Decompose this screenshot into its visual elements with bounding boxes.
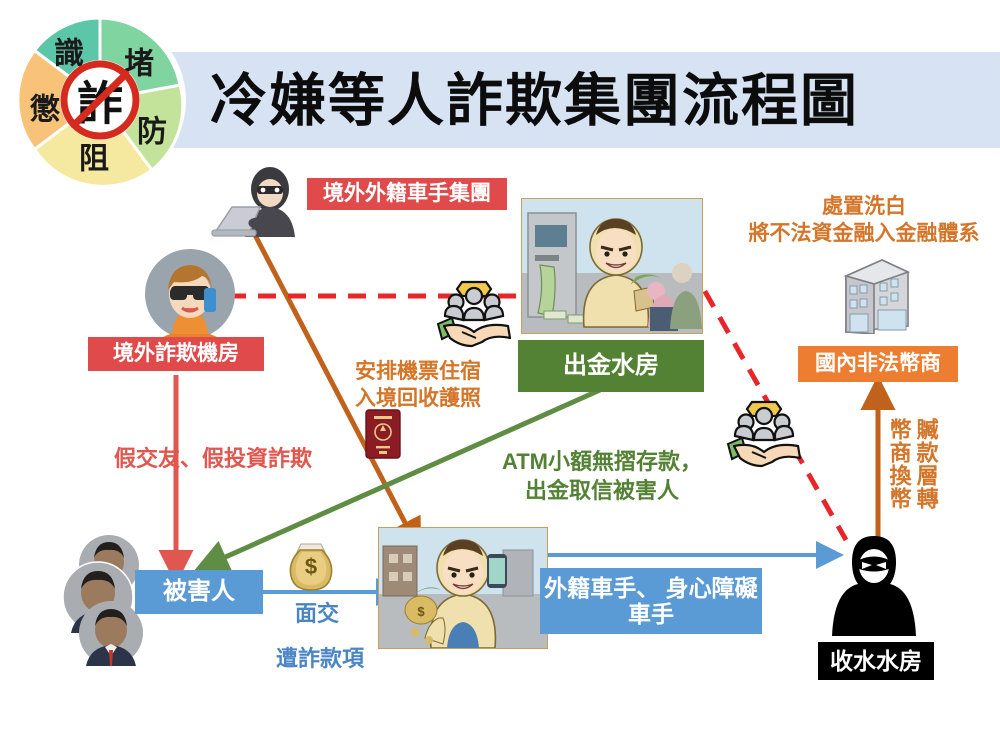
annotation-arrange-flight: 安排機票住宿 入境回收護照 bbox=[333, 358, 503, 413]
annotation-defrauded-funds: 遭詐款項 bbox=[250, 645, 390, 674]
node-domestic-dealer-label: 國內非法幣商 bbox=[815, 352, 941, 376]
node-payout-laundry-label: 出金水房 bbox=[563, 352, 659, 380]
office-building-icon bbox=[838, 252, 914, 334]
masked-thief-icon bbox=[828, 532, 920, 640]
logo-petal-4: 懲 bbox=[30, 94, 60, 127]
node-domestic-dealer[interactable]: 國內非法幣商 bbox=[798, 346, 958, 382]
node-victim-label: 被害人 bbox=[163, 578, 235, 606]
node-payout-laundry[interactable]: 出金水房 bbox=[518, 340, 704, 392]
logo-petal-3: 阻 bbox=[79, 143, 109, 176]
node-collector-laundry[interactable]: 收水水房 bbox=[818, 642, 934, 680]
node-overseas-callcenter-label: 境外詐欺機房 bbox=[113, 342, 239, 366]
passport-icon bbox=[364, 408, 402, 460]
handshake-deal-icon-upper bbox=[432, 276, 516, 352]
svg-text:$: $ bbox=[417, 604, 425, 619]
annotation-dirty-money-layer: 贓款層轉 bbox=[911, 418, 940, 510]
node-overseas-mules-label: 境外外籍車手集團 bbox=[323, 182, 491, 206]
node-foreign-mule-banner[interactable]: 外籍車手、 身心障礙車手 bbox=[540, 568, 762, 634]
money-bag-icon: $ bbox=[286, 540, 336, 592]
annotation-fake-romance: 假交友、假投資詐欺 bbox=[88, 445, 338, 474]
node-victim[interactable]: 被害人 bbox=[135, 570, 263, 614]
logo-petal-2: 防 bbox=[137, 116, 167, 149]
annotation-atm-deposit: ATM小額無摺存款， 出金取信被害人 bbox=[477, 448, 727, 505]
logo-petal-0: 識 bbox=[54, 38, 84, 71]
flowchart-canvas: 冷嫌等人詐欺集團流程圖 識 堵 防 阻 懲 詐 bbox=[0, 0, 1000, 750]
handshake-deal-icon-lower bbox=[722, 396, 806, 472]
node-overseas-mules[interactable]: 境外外籍車手集團 bbox=[307, 178, 507, 210]
annotation-face-to-face: 面交 bbox=[262, 600, 372, 629]
annotation-launder-whiten: 處置洗白 將不法資金融入金融體系 bbox=[730, 193, 998, 248]
hacker-laptop-icon bbox=[198, 163, 322, 241]
svg-text:$: $ bbox=[305, 554, 317, 579]
annotation-dealer-exchange: 幣商換幣 bbox=[884, 418, 913, 510]
mule-with-cash-photo: $ bbox=[378, 527, 548, 649]
atm-withdrawal-photo bbox=[521, 198, 703, 334]
phone-scammer-avatar-icon bbox=[144, 248, 236, 340]
node-overseas-callcenter[interactable]: 境外詐欺機房 bbox=[88, 337, 264, 371]
anti-fraud-logo: 識 堵 防 阻 懲 詐 bbox=[12, 12, 188, 188]
node-collector-laundry-label: 收水水房 bbox=[830, 648, 922, 674]
node-foreign-mule-banner-label: 外籍車手、 身心障礙車手 bbox=[540, 575, 762, 628]
page-title: 冷嫌等人詐欺集團流程圖 bbox=[210, 58, 1000, 144]
